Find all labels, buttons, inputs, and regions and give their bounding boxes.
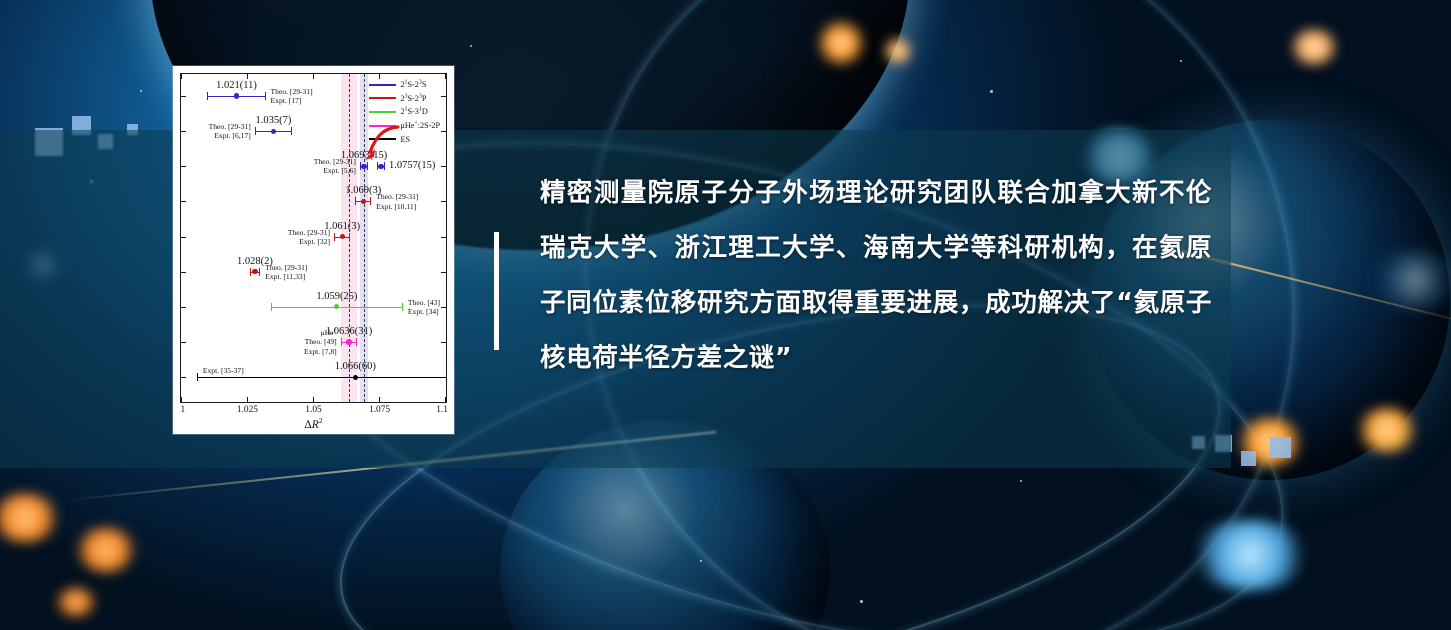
y-axis-tick xyxy=(181,166,186,167)
y-axis-tick xyxy=(181,377,186,378)
legend-label: μHe+:2S-2P xyxy=(400,121,440,130)
reference-label: Theo. [29-31]Expt. [6,17] xyxy=(209,122,251,141)
banner-root: 精密测量院原子分子外场理论研究团队联合加拿大新不伦瑞克大学、浙江理工大学、海南大… xyxy=(0,0,1451,630)
y-axis-tick xyxy=(181,342,186,343)
legend-item: μHe+:2S-2P xyxy=(369,119,440,133)
data-marker xyxy=(378,164,383,169)
x-axis-tick xyxy=(445,74,446,79)
errorbar-cap xyxy=(349,233,350,241)
reference-vline xyxy=(364,74,365,402)
x-axis-tick xyxy=(247,74,248,79)
data-value-label: 1.021(11) xyxy=(216,81,257,92)
reference-label: Theo. [29-31]Expt. [11,33] xyxy=(265,263,307,282)
data-value-label: 1.066(60) xyxy=(335,362,376,373)
x-tick-label: 1.075 xyxy=(369,405,390,415)
legend-swatch xyxy=(369,111,396,113)
accent-bar xyxy=(494,232,499,350)
legend-item: 21S-31D xyxy=(369,105,440,119)
y-axis-tick xyxy=(441,342,446,343)
x-tick-label: 1.05 xyxy=(305,405,321,415)
legend-item: 23S-23P xyxy=(369,92,440,106)
y-axis-tick xyxy=(441,131,446,132)
legend-swatch xyxy=(369,84,396,86)
x-axis-tick xyxy=(181,397,182,402)
errorbar-cap xyxy=(207,92,208,100)
y-axis-tick xyxy=(441,237,446,238)
y-axis-tick xyxy=(441,272,446,273)
x-axis-tick xyxy=(313,74,314,79)
y-axis-tick xyxy=(441,96,446,97)
data-marker xyxy=(361,199,366,204)
x-tick-label: 1.1 xyxy=(436,405,448,415)
errorbar-cap xyxy=(265,92,266,100)
decor-square xyxy=(1270,437,1291,458)
data-marker xyxy=(271,129,276,134)
data-marker xyxy=(252,269,257,274)
errorbar-cap xyxy=(291,127,292,135)
y-axis-tick xyxy=(181,272,186,273)
y-axis-tick xyxy=(181,96,186,97)
reference-label: Theo. [43]Expt. [34] xyxy=(408,298,440,317)
star-dot xyxy=(1020,480,1022,482)
errorbar-cap xyxy=(255,127,256,135)
reference-label: μHe+Theo. [49]Expt. [7,8] xyxy=(304,328,337,356)
errorbar-cap xyxy=(370,197,371,205)
x-axis-tick xyxy=(181,74,182,79)
data-value-label: 1.0757(15) xyxy=(389,161,435,172)
plot-area: 21S-23S23S-23P21S-31DμHe+:2S-2PES1.021(1… xyxy=(180,73,447,403)
star-dot xyxy=(140,90,142,92)
errorbar-cap xyxy=(250,268,251,276)
data-value-label: 1.059(25) xyxy=(316,292,357,303)
errorbar-cap xyxy=(384,162,385,170)
data-marker xyxy=(334,304,339,309)
y-axis-tick xyxy=(181,131,186,132)
y-axis-tick xyxy=(441,201,446,202)
legend-item: ES xyxy=(369,132,440,146)
data-marker xyxy=(340,234,345,239)
y-axis-tick xyxy=(441,166,446,167)
decor-square xyxy=(1241,451,1256,466)
reference-label: Theo. [29-31]Expt. [17] xyxy=(271,87,313,106)
x-axis-tick xyxy=(247,397,248,402)
legend-swatch xyxy=(369,138,396,140)
legend-swatch xyxy=(369,125,396,127)
star-dot xyxy=(470,45,472,47)
star-dot xyxy=(990,90,993,93)
legend-label: 21S-23S xyxy=(400,80,426,89)
legend-label: ES xyxy=(400,135,410,144)
figure-card: 21S-23S23S-23P21S-31DμHe+:2S-2PES1.021(1… xyxy=(173,66,454,434)
legend-label: 21S-31D xyxy=(400,107,427,116)
x-axis-tick xyxy=(313,397,314,402)
legend-swatch xyxy=(369,97,396,99)
reference-label: Theo. [29-31]Expt. [32] xyxy=(288,228,330,247)
data-marker xyxy=(361,164,366,169)
chart-legend: 21S-23S23S-23P21S-31DμHe+:2S-2PES xyxy=(369,78,440,146)
y-axis-tick xyxy=(441,307,446,308)
star-dot xyxy=(860,600,863,603)
errorbar-line xyxy=(197,377,447,378)
y-axis-tick xyxy=(181,307,186,308)
y-axis-tick xyxy=(181,201,186,202)
x-axis-title: ΔR2 xyxy=(173,416,454,431)
reference-label: Theo. [29-31]Expt. [10,11] xyxy=(376,192,418,211)
x-axis-tick xyxy=(379,397,380,402)
star-dot xyxy=(1180,60,1182,62)
star-dot xyxy=(700,560,702,562)
reference-label: Theo. [29-31]Expt. [5,6] xyxy=(314,157,356,176)
reference-label: Expt. [35-37] xyxy=(203,366,244,375)
errorbar-cap xyxy=(341,338,342,346)
x-tick-label: 1 xyxy=(180,405,185,415)
errorbar-cap xyxy=(367,162,368,170)
data-marker xyxy=(234,93,239,98)
errorbar-cap xyxy=(402,303,403,311)
data-marker xyxy=(346,339,351,344)
data-value-label: 1.035(7) xyxy=(256,116,292,127)
legend-item: 21S-23S xyxy=(369,78,440,92)
y-axis-tick xyxy=(181,237,186,238)
data-marker xyxy=(353,375,358,380)
legend-label: 23S-23P xyxy=(400,94,426,103)
errorbar-cap xyxy=(355,197,356,205)
errorbar-cap xyxy=(334,233,335,241)
errorbar-cap xyxy=(197,373,198,381)
x-axis-tick xyxy=(445,397,446,402)
x-tick-label: 1.025 xyxy=(237,405,258,415)
errorbar-cap xyxy=(259,268,260,276)
errorbar-cap xyxy=(271,303,272,311)
headline-text: 精密测量院原子分子外场理论研究团队联合加拿大新不伦瑞克大学、浙江理工大学、海南大… xyxy=(540,166,1212,386)
errorbar-cap xyxy=(356,338,357,346)
